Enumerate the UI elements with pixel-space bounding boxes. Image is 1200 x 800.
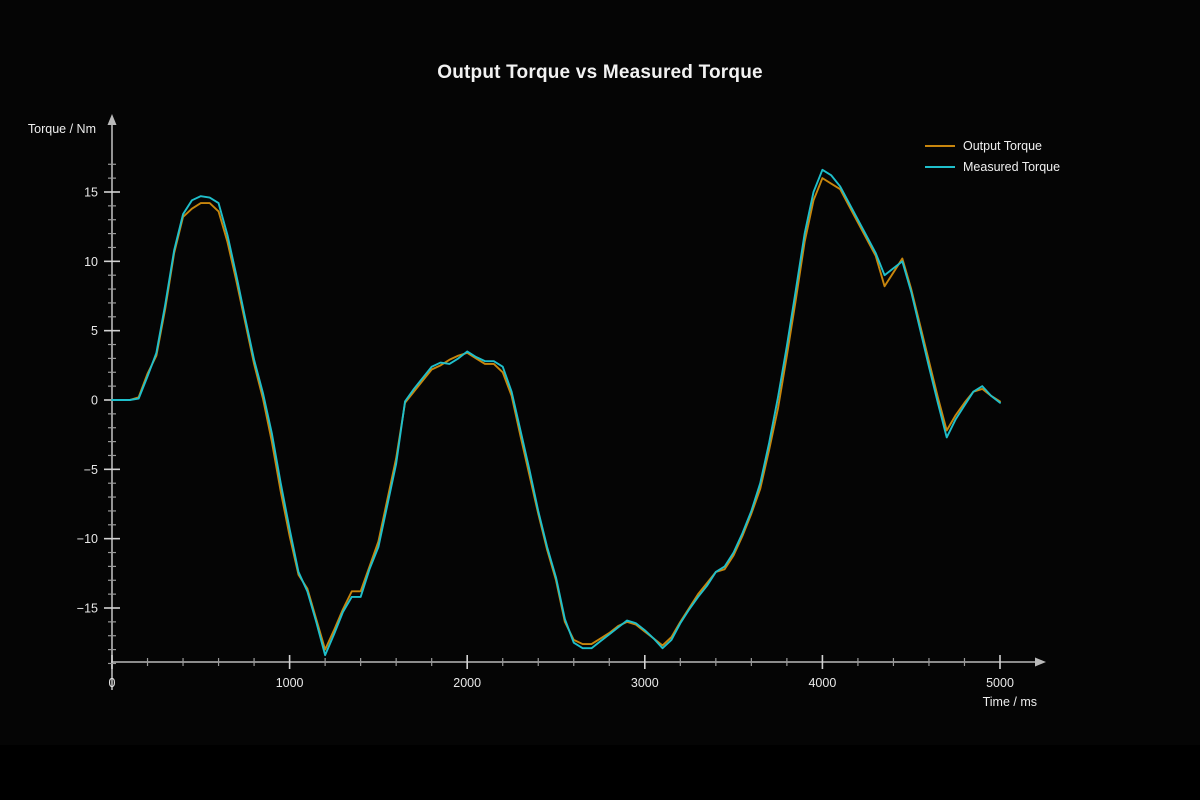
line-chart-plot: 010002000300040005000151050−5−10−15 Torq…: [0, 0, 1200, 800]
legend-label-measured-torque: Measured Torque: [963, 160, 1060, 174]
axis-names-layer: Torque / NmTime / ms: [28, 122, 1037, 709]
x-axis-tick-label: 4000: [808, 676, 836, 690]
x-axis-arrow-icon: [1035, 658, 1046, 667]
y-axis-tick-label: 5: [91, 324, 98, 338]
x-axis-tick-label: 3000: [631, 676, 659, 690]
chart-legend: Output Torque Measured Torque: [925, 139, 1060, 174]
y-axis-tick-label: −10: [77, 532, 98, 546]
y-axis-tick-label: −15: [77, 602, 98, 616]
legend-item-output-torque[interactable]: Output Torque: [925, 139, 1060, 153]
legend-swatch-measured-torque: [925, 166, 955, 168]
legend-swatch-output-torque: [925, 145, 955, 147]
legend-label-output-torque: Output Torque: [963, 139, 1042, 153]
legend-item-measured-torque[interactable]: Measured Torque: [925, 160, 1060, 174]
x-axis-tick-label: 0: [109, 676, 116, 690]
x-axis-tick-label: 2000: [453, 676, 481, 690]
y-axis-tick-label: 15: [84, 186, 98, 200]
chart-screenshot: Output Torque vs Measured Torque 0100020…: [0, 0, 1200, 800]
y-axis-title: Torque / Nm: [28, 122, 96, 136]
series-layer: [112, 170, 1000, 655]
x-axis-tick-label: 5000: [986, 676, 1014, 690]
x-axis-tick-label: 1000: [276, 676, 304, 690]
y-axis-tick-label: 0: [91, 394, 98, 408]
y-axis-tick-label: −5: [84, 463, 98, 477]
y-axis-arrow-icon: [108, 114, 117, 125]
x-axis-title: Time / ms: [983, 695, 1037, 709]
y-axis-tick-label: 10: [84, 255, 98, 269]
